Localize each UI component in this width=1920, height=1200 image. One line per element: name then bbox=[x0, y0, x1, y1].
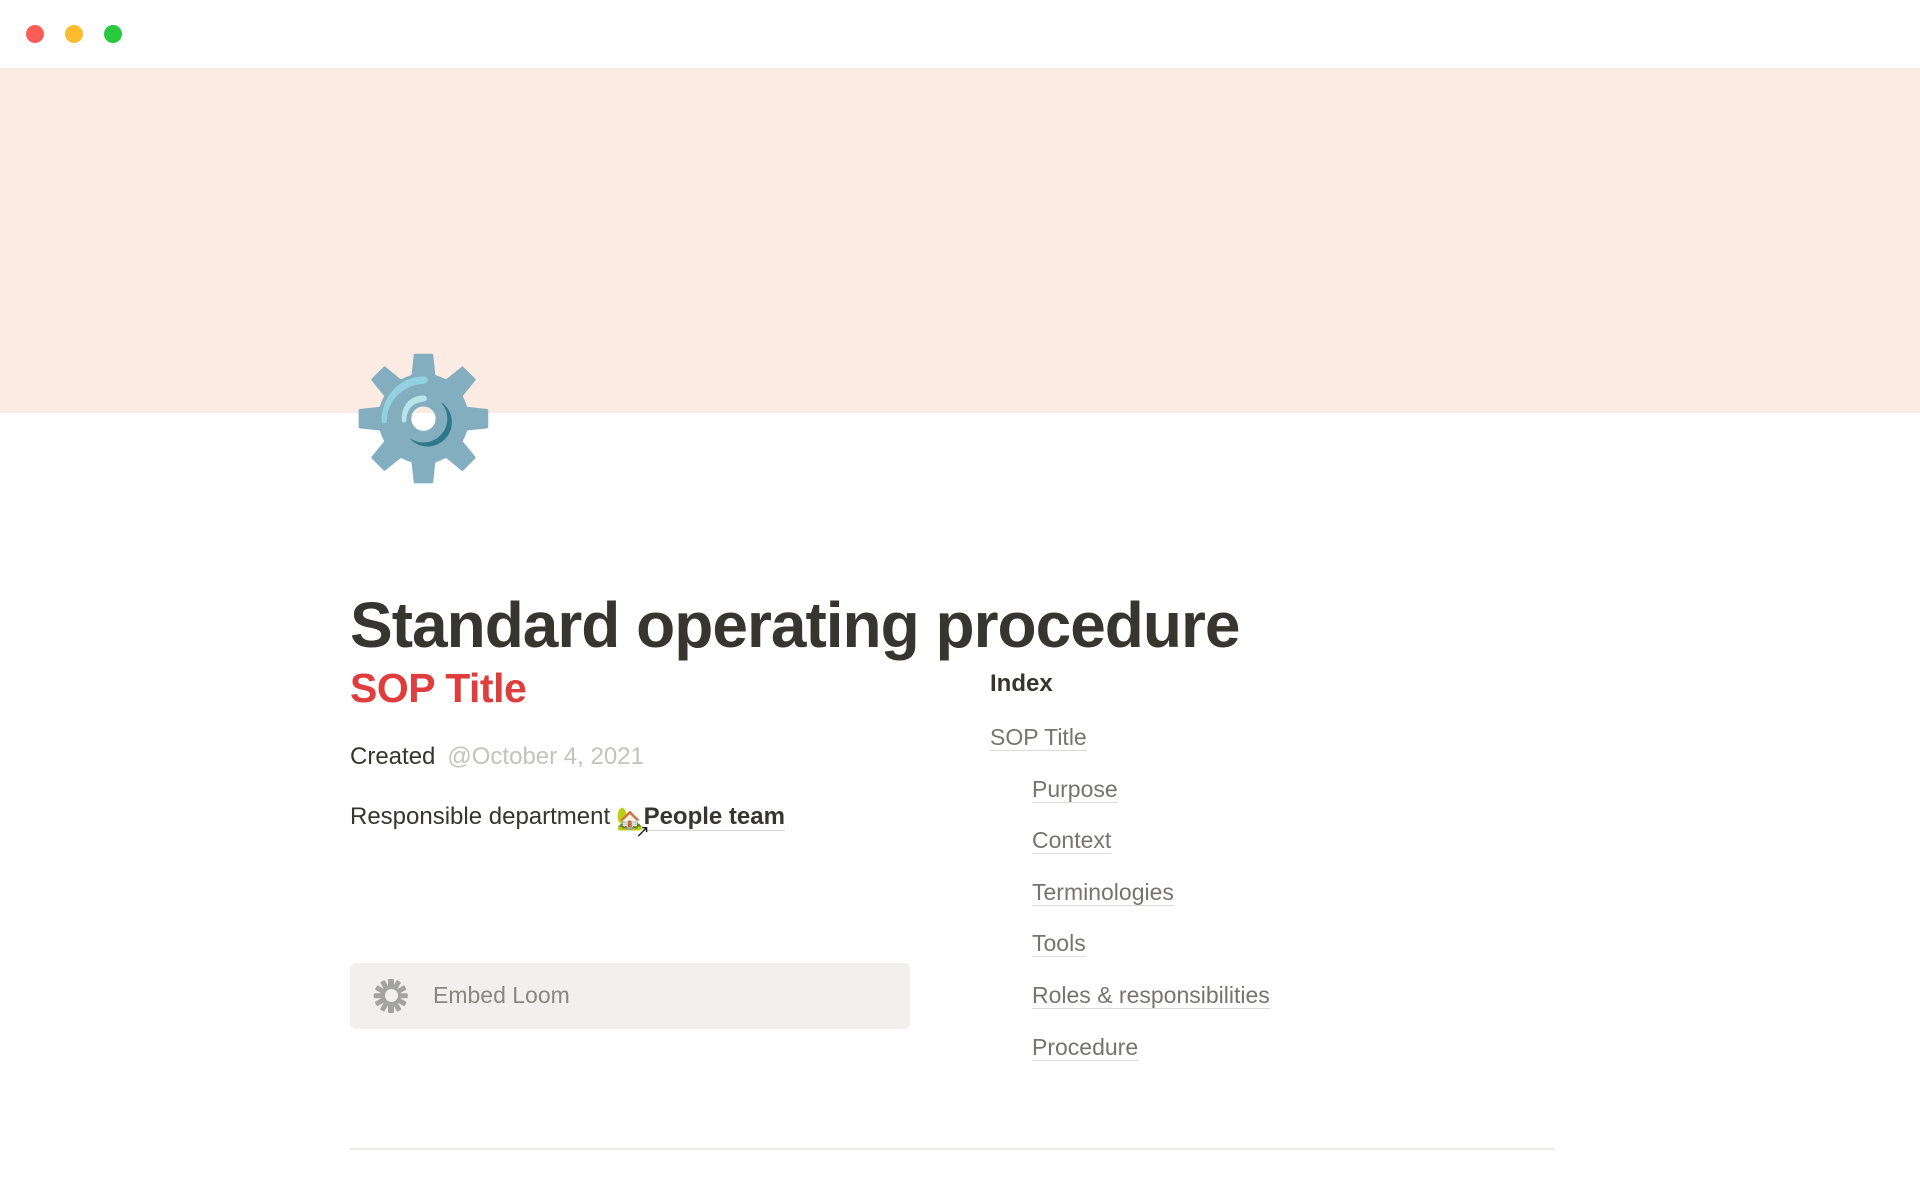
toc-item-sop-title[interactable]: SOP Title bbox=[990, 724, 1555, 752]
toc-item-context[interactable]: Context bbox=[1032, 827, 1555, 855]
toc-item-procedure[interactable]: Procedure bbox=[1032, 1034, 1555, 1062]
minimize-window-button[interactable] bbox=[65, 25, 83, 43]
maximize-window-button[interactable] bbox=[104, 25, 122, 43]
loom-embed-block[interactable]: Embed Loom bbox=[350, 963, 910, 1029]
house-with-garden-emoji-icon: 🏡↗ bbox=[616, 804, 643, 835]
index-heading: Index bbox=[990, 670, 1555, 698]
left-column: SOP Title Created@October 4, 2021 Respon… bbox=[350, 665, 950, 1085]
embed-loom-label: Embed Loom bbox=[433, 982, 570, 1009]
created-label: Created bbox=[350, 743, 435, 770]
right-column: Index SOP Title Purpose Context Terminol… bbox=[950, 665, 1555, 1085]
responsible-department-row: Responsible department🏡↗People team bbox=[350, 800, 950, 835]
table-of-contents: SOP Title Purpose Context Terminologies … bbox=[990, 724, 1555, 1061]
toc-item-tools[interactable]: Tools bbox=[1032, 930, 1555, 958]
toc-item-roles-responsibilities[interactable]: Roles & responsibilities bbox=[1032, 982, 1555, 1010]
loom-icon bbox=[372, 977, 410, 1015]
window-titlebar bbox=[0, 0, 1920, 68]
gear-emoji-icon[interactable]: ⚙️ bbox=[350, 350, 488, 488]
page-title: Standard operating procedure bbox=[350, 588, 1239, 662]
toc-item-terminologies[interactable]: Terminologies bbox=[1032, 879, 1555, 907]
close-window-button[interactable] bbox=[26, 25, 44, 43]
section-divider bbox=[350, 1148, 1555, 1150]
traffic-light-controls bbox=[26, 25, 122, 43]
people-team-page-link[interactable]: People team bbox=[644, 803, 785, 831]
two-column-layout: SOP Title Created@October 4, 2021 Respon… bbox=[350, 665, 1555, 1085]
responsible-department-label: Responsible department bbox=[350, 803, 610, 830]
created-row: Created@October 4, 2021 bbox=[350, 740, 950, 774]
toc-item-purpose[interactable]: Purpose bbox=[1032, 776, 1555, 804]
page-cover-image[interactable] bbox=[0, 68, 1920, 413]
page-body: ⚙️ Standard operating procedure SOP Titl… bbox=[0, 413, 1920, 1200]
created-date-mention[interactable]: @October 4, 2021 bbox=[447, 743, 643, 770]
page-link-arrow-icon: ↗ bbox=[635, 823, 649, 840]
sop-title-heading: SOP Title bbox=[350, 665, 950, 712]
